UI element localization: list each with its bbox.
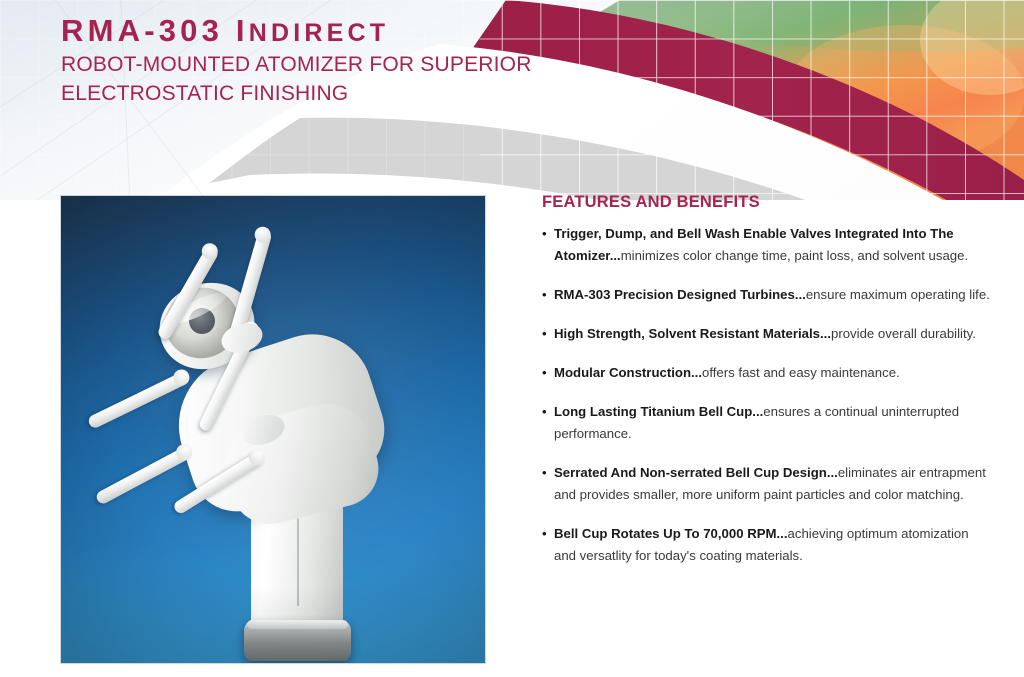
feature-lead: Bell Cup Rotates Up To 70,000 RPM... [554, 526, 788, 541]
feature-item: Long Lasting Titanium Bell Cup...ensures… [542, 401, 994, 445]
features-heading: FEATURES AND BENEFITS [542, 193, 994, 212]
feature-item: Bell Cup Rotates Up To 70,000 RPM...achi… [542, 523, 994, 567]
features-panel: FEATURES AND BENEFITS Trigger, Dump, and… [542, 193, 994, 584]
product-photo [61, 196, 485, 663]
feature-item: Serrated And Non-serrated Bell Cup Desig… [542, 462, 994, 506]
features-list: Trigger, Dump, and Bell Wash Enable Valv… [542, 223, 994, 567]
feature-lead: High Strength, Solvent Resistant Materia… [554, 326, 831, 341]
page-title-model: RMA-303 [61, 13, 223, 48]
feature-rest: provide overall durability. [831, 326, 976, 341]
feature-rest: ensure maximum operating life. [806, 287, 990, 302]
feature-item: Trigger, Dump, and Bell Wash Enable Valv… [542, 223, 994, 267]
page-title-word-rest: NDIRECT [249, 19, 390, 47]
page-subtitle-line-1: ROBOT-MOUNTED ATOMIZER FOR SUPERIOR [61, 50, 621, 79]
product-datasheet-page: RMA-303 INDIRECT ROBOT-MOUNTED ATOMIZER … [0, 0, 1024, 677]
photo-vignette [61, 196, 485, 663]
feature-item: RMA-303 Precision Designed Turbines...en… [542, 284, 994, 306]
feature-lead: RMA-303 Precision Designed Turbines... [554, 287, 806, 302]
page-title-word-cap: I [236, 13, 249, 48]
page-title: RMA-303 INDIRECT [61, 14, 621, 50]
feature-item: High Strength, Solvent Resistant Materia… [542, 323, 994, 345]
feature-lead: Modular Construction... [554, 365, 702, 380]
page-subtitle-line-2: ELECTROSTATIC FINISHING [61, 79, 621, 108]
feature-rest: minimizes color change time, paint loss,… [621, 248, 968, 263]
feature-lead: Serrated And Non-serrated Bell Cup Desig… [554, 465, 838, 480]
title-block: RMA-303 INDIRECT ROBOT-MOUNTED ATOMIZER … [61, 14, 621, 108]
feature-item: Modular Construction...offers fast and e… [542, 362, 994, 384]
feature-lead: Long Lasting Titanium Bell Cup... [554, 404, 763, 419]
feature-rest: offers fast and easy maintenance. [702, 365, 900, 380]
